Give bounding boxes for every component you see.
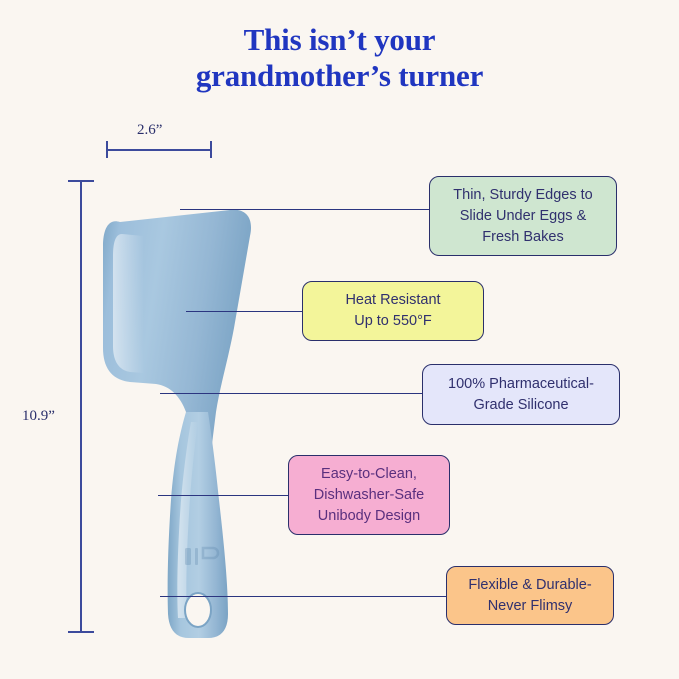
callout-heat-resistant[interactable]: Heat Resistant Up to 550°F [302,281,484,341]
spatula-handle [168,412,228,638]
connector-easy-to-clean [158,495,289,496]
title-line-2: grandmother’s turner [0,58,679,94]
width-dimension-label: 2.6” [137,122,162,139]
connector-pharmaceutical-grade [160,393,423,394]
callout-line: Unibody Design [314,506,424,527]
callout-line: Dishwasher-Safe [314,485,424,506]
brand-emboss-icon [185,548,218,565]
connector-thin-sturdy-edges [180,209,430,210]
callout-line: Up to 550°F [345,311,440,332]
callout-line: 100% Pharmaceutical- [448,374,594,395]
width-dimension-cap-right [210,141,212,158]
height-dimension-cap-top [68,180,94,182]
width-dimension-cap-left [106,141,108,158]
height-dimension-cap-bottom [68,631,94,633]
title-line-1: This isn’t your [244,22,436,57]
spatula-head [103,210,251,460]
spatula-illustration [58,160,258,650]
callout-flexible-durable[interactable]: Flexible & Durable- Never Flimsy [446,566,614,625]
callout-line: Thin, Sturdy Edges to [453,185,592,206]
page-title: This isn’t your grandmother’s turner [0,22,679,94]
callout-line: Grade Silicone [448,395,594,416]
spatula-handle-gloss [177,422,198,618]
spatula-head-gloss [113,234,144,373]
callout-line: Flexible & Durable- [468,575,591,596]
infographic-canvas: This isn’t your grandmother’s turner 2.6… [0,0,679,679]
height-dimension-line [80,180,82,633]
callout-pharmaceutical-grade-silicone[interactable]: 100% Pharmaceutical- Grade Silicone [422,364,620,425]
connector-heat-resistant [186,311,303,312]
callout-easy-to-clean[interactable]: Easy-to-Clean, Dishwasher-Safe Unibody D… [288,455,450,535]
callout-line: Never Flimsy [468,596,591,617]
connector-flexible-durable [160,596,446,597]
height-dimension-label: 10.9” [22,408,55,425]
callout-line: Easy-to-Clean, [314,464,424,485]
width-dimension-line [106,149,212,151]
callout-line: Fresh Bakes [453,227,592,248]
callout-thin-sturdy-edges[interactable]: Thin, Sturdy Edges to Slide Under Eggs &… [429,176,617,256]
callout-line: Heat Resistant [345,290,440,311]
callout-line: Slide Under Eggs & [453,206,592,227]
hang-hole [185,593,211,627]
